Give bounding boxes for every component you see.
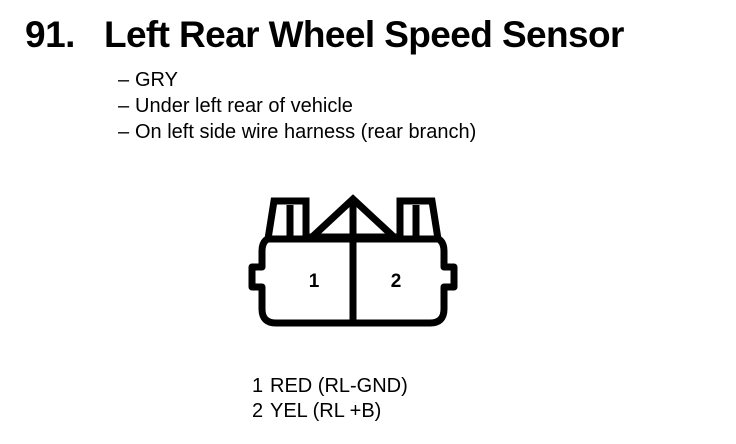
list-item-label: GRY xyxy=(135,67,178,93)
page-title-text: Left Rear Wheel Speed Sensor xyxy=(104,16,624,53)
cavity-number-1: 1 xyxy=(309,271,320,292)
dash-icon: – xyxy=(118,93,135,119)
list-item: – GRY xyxy=(118,67,476,93)
list-item: – On left side wire harness (rear branch… xyxy=(118,119,476,145)
pin-legend: 1 RED (RL-GND) 2 YEL (RL +B) xyxy=(252,374,408,424)
connector-graphic: 1 2 xyxy=(248,193,488,338)
cavity-number-2: 2 xyxy=(391,271,402,292)
legend-pin-description: YEL (RL +B) xyxy=(270,399,381,424)
page-title: 91. Left Rear Wheel Speed Sensor xyxy=(25,16,624,53)
connector-diagram: 1 2 xyxy=(248,193,488,338)
legend-pin-description: RED (RL-GND) xyxy=(270,374,408,399)
list-item: – Under left rear of vehicle xyxy=(118,93,476,119)
dash-icon: – xyxy=(118,119,135,145)
legend-item: 1 RED (RL-GND) xyxy=(252,374,408,399)
list-item-label: Under left rear of vehicle xyxy=(135,93,353,119)
legend-item: 2 YEL (RL +B) xyxy=(252,399,408,424)
dash-icon: – xyxy=(118,67,135,93)
page-title-number: 91. xyxy=(25,16,75,53)
legend-pin-number: 2 xyxy=(252,399,270,424)
description-list: – GRY – Under left rear of vehicle – On … xyxy=(118,67,476,145)
list-item-label: On left side wire harness (rear branch) xyxy=(135,119,476,145)
legend-pin-number: 1 xyxy=(252,374,270,399)
